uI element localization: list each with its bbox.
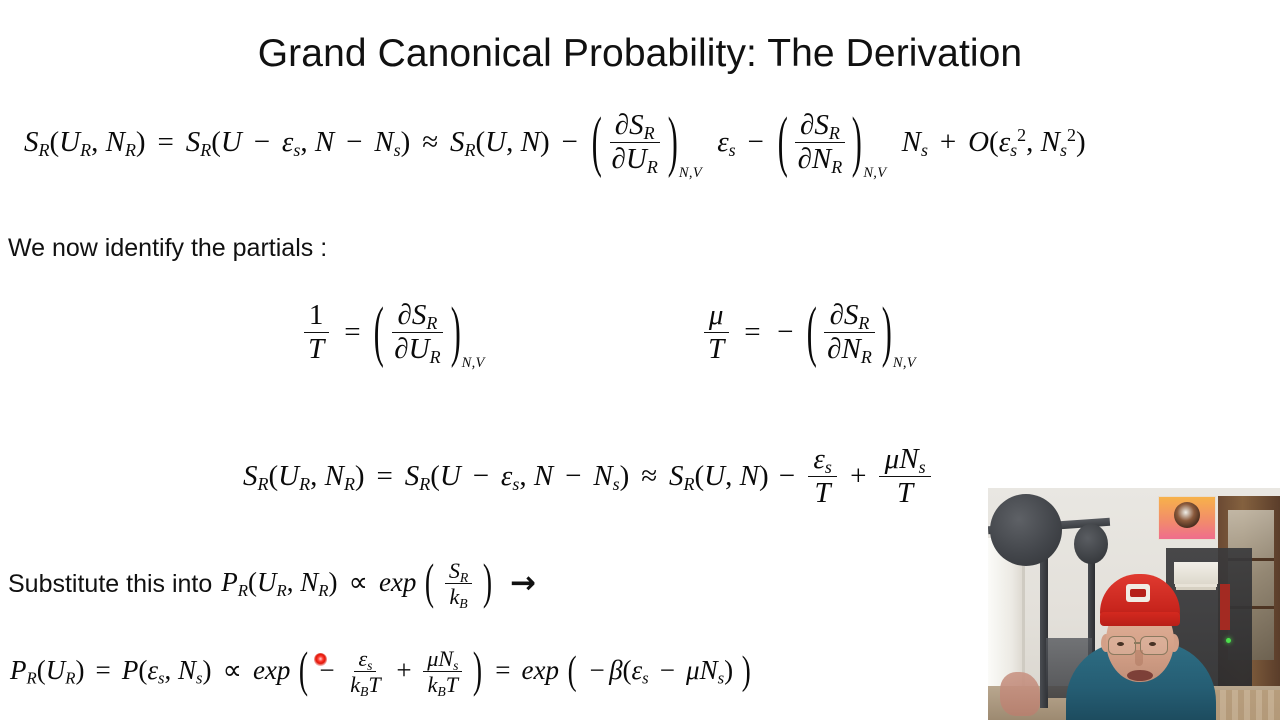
plus-sign: +	[935, 126, 961, 158]
page-title: Grand Canonical Probability: The Derivat…	[0, 32, 1280, 76]
left-paren-tall: (	[374, 300, 384, 368]
text-substitute-line: Substitute this into PR(UR, NR) ∝ exp ( …	[8, 560, 536, 610]
numerator: μNs	[879, 444, 930, 477]
denominator: kBT	[424, 672, 463, 696]
eq1-rhs-2: SR(U, N)	[450, 126, 550, 158]
eq1-rhs-1: SR(U − εs, N − Ns)	[186, 126, 411, 158]
right-paren: )	[742, 650, 751, 691]
S-over-kB: SR kB	[445, 559, 472, 609]
denominator: T	[892, 477, 919, 509]
epsilon-s-factor-1: εs	[710, 126, 736, 158]
eq4-mid: P(εs, Ns)	[122, 655, 212, 685]
approx-sign: ≈	[637, 460, 662, 492]
left-paren-tall: (	[592, 110, 602, 178]
mu-over-T: μ T	[703, 300, 730, 364]
held-constant-subscript: N,V	[863, 166, 886, 181]
equation-inverse-temperature: 1 T = ( ∂SR ∂UR ) N,V	[300, 302, 485, 366]
weight-plate-small	[1074, 524, 1108, 564]
held-constant-subscript: N,V	[679, 166, 702, 181]
right-paren-tall: )	[473, 645, 482, 695]
beanie-brim	[1100, 612, 1180, 626]
eq4-lhs: PR(UR)	[10, 655, 84, 685]
partial-S-by-U-group: ( ∂SR ∂UR ) N,V	[372, 302, 485, 366]
exp-label-1: exp	[253, 655, 290, 685]
denominator: T	[809, 477, 836, 509]
equation-grand-canonical-result: PR(UR) = P(εs, Ns) ∝ exp ( − εs kBT + μN…	[10, 648, 753, 698]
equation-chemical-potential: μ T = − ( ∂SR ∂NR ) N,V	[700, 302, 917, 366]
right-paren-tall: )	[483, 557, 492, 607]
epsilon-over-T: εs T	[808, 444, 837, 508]
equation-entropy-substituted: SR(UR, NR) = SR(U − εs, N − Ns) ≈ SR(U, …	[243, 446, 934, 510]
N-s-factor: Ns	[894, 126, 928, 158]
poster-artwork	[1174, 502, 1200, 528]
numerator: μ	[704, 300, 729, 333]
eq3-rhs-2: SR(U, N)	[669, 460, 769, 492]
weight-plate-large	[990, 494, 1062, 566]
numerator: 1	[304, 300, 329, 333]
partial-derivative-S-N: ∂SR ∂NR	[792, 110, 847, 174]
right-paren-tall: )	[852, 110, 862, 178]
presenter-eye-left	[1117, 642, 1124, 646]
equals-sign: =	[153, 126, 179, 158]
approx-sign: ≈	[418, 126, 443, 158]
denominator: kB	[445, 584, 471, 608]
partial-derivative-S-N: ∂SR ∂NR	[822, 300, 877, 364]
beanie-logo-mark	[1130, 589, 1146, 597]
denominator: T	[703, 333, 730, 365]
partial-S-by-N-group: ( ∂SR ∂NR ) N,V	[805, 302, 916, 366]
equals-sign: =	[740, 316, 766, 348]
hand	[1000, 672, 1040, 716]
numerator: ∂SR	[392, 300, 442, 333]
minus-sign-highlighted: −	[317, 655, 338, 685]
left-paren-tall: (	[807, 300, 817, 368]
numerator: ∂SR	[824, 300, 874, 333]
denominator: ∂NR	[792, 143, 847, 175]
epsilon-over-kBT: εs kBT	[346, 647, 385, 697]
equals-sign: =	[340, 316, 366, 348]
exp-label: exp	[379, 567, 416, 597]
held-constant-subscript: N,V	[462, 356, 485, 371]
left-paren: (	[568, 650, 577, 691]
minus-sign-1: −	[557, 126, 583, 158]
exp-label-2: exp	[521, 655, 558, 685]
eq3-lhs: SR(UR, NR)	[243, 460, 365, 492]
equals-sign-1: =	[91, 655, 115, 685]
numerator: ∂SR	[610, 110, 660, 143]
partial-derivative-S-U: ∂SR ∂UR	[606, 110, 663, 174]
held-constant-subscript: N,V	[893, 356, 916, 371]
slide-canvas: Grand Canonical Probability: The Derivat…	[0, 0, 1280, 720]
one-over-T: 1 T	[303, 300, 330, 364]
green-led-indicator	[1226, 638, 1231, 643]
eq3-rhs-1: SR(U − εs, N − Ns)	[405, 460, 630, 492]
equals-sign-2: =	[491, 655, 515, 685]
plus-sign: +	[847, 460, 869, 492]
denominator: kBT	[346, 672, 385, 696]
substitute-prefix-label: Substitute this into	[8, 570, 212, 599]
plus-sign: +	[394, 655, 415, 685]
partial-S-by-N-group: ( ∂SR ∂NR ) N,V	[776, 112, 887, 176]
right-paren-tall: )	[882, 300, 892, 368]
presenter-nose	[1135, 650, 1143, 666]
eyeglasses-bridge	[1134, 642, 1140, 644]
proportional-sign: ∝	[218, 655, 246, 685]
eq1-lhs: SR(UR, NR)	[24, 126, 146, 158]
presenter-eye-right	[1149, 642, 1156, 646]
left-paren-tall: (	[299, 645, 308, 695]
numerator: εs	[808, 444, 837, 477]
red-book	[1220, 584, 1230, 630]
denominator: ∂UR	[606, 143, 663, 175]
numerator: SR	[445, 559, 472, 584]
stack-of-papers	[1174, 562, 1218, 584]
mu-N-over-T: μNs T	[879, 444, 930, 508]
presenter-mouth	[1127, 670, 1153, 681]
left-paren-tall: (	[425, 557, 434, 607]
numerator: εs	[354, 647, 376, 672]
denominator: ∂UR	[389, 333, 446, 365]
text-identify-partials: We now identify the partials :	[8, 234, 327, 263]
substitute-math-expression: PR(UR, NR) ∝ exp ( SR kB )	[221, 560, 494, 610]
partial-S-by-U-group: ( ∂SR ∂UR ) N,V	[590, 112, 703, 176]
presenter-webcam-overlay[interactable]	[988, 488, 1280, 720]
minus-sign: −	[776, 460, 798, 492]
denominator: T	[303, 333, 330, 365]
numerator: μNs	[423, 647, 462, 672]
big-o-term: O(εs2, Ns2)	[968, 126, 1086, 158]
equation-taylor-expansion: SR(UR, NR) = SR(U − εs, N − Ns) ≈ SR(U, …	[24, 112, 1086, 176]
denominator: ∂NR	[822, 333, 877, 365]
right-paren-tall: )	[668, 110, 678, 178]
right-paren-tall: )	[450, 300, 460, 368]
beta-term: −β(εs − μNs)	[585, 655, 733, 685]
numerator: ∂SR	[795, 110, 845, 143]
minus-sign: −	[772, 316, 798, 348]
proportional-sign: ∝	[344, 567, 372, 597]
partial-derivative-S-U: ∂SR ∂UR	[389, 300, 446, 364]
muN-over-kBT: μNs kBT	[423, 647, 462, 697]
minus-sign-2: −	[743, 126, 769, 158]
left-paren-tall: (	[778, 110, 788, 178]
equals-sign: =	[372, 460, 398, 492]
right-arrow-icon: →	[510, 568, 536, 599]
